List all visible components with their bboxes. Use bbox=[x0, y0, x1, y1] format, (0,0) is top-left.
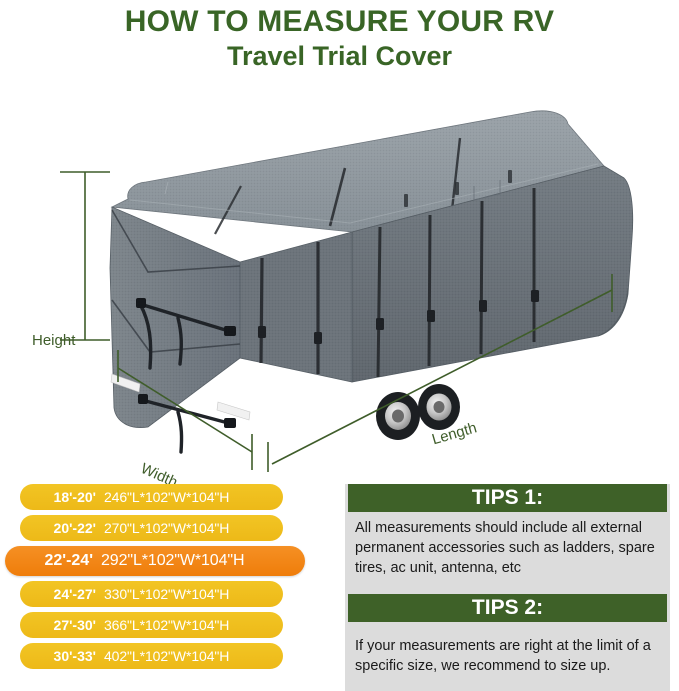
size-dimensions-label: 270"L*102"W*104"H bbox=[104, 520, 229, 536]
page-title: HOW TO MEASURE YOUR RV Travel Trial Cove… bbox=[0, 0, 679, 73]
size-dimensions-label: 246"L*102"W*104"H bbox=[104, 489, 229, 505]
tips1-body: All measurements should include all exte… bbox=[345, 512, 670, 586]
size-range-label: 24'-27' bbox=[20, 586, 104, 602]
tips2-header: TIPS 2: bbox=[348, 594, 667, 622]
size-row[interactable]: 18'-20' 246"L*102"W*104"H bbox=[20, 484, 283, 510]
cover-mid-face bbox=[240, 232, 352, 382]
size-range-label: 27'-30' bbox=[20, 617, 104, 633]
size-dimensions-label: 366"L*102"W*104"H bbox=[104, 617, 229, 633]
size-row[interactable]: 30'-33' 402"L*102"W*104"H bbox=[20, 643, 283, 669]
size-dimensions-label: 292"L*102"W*104"H bbox=[101, 552, 244, 570]
size-row[interactable]: 27'-30' 366"L*102"W*104"H bbox=[20, 612, 283, 638]
tips-panel: TIPS 1: All measurements should include … bbox=[345, 484, 670, 691]
size-chart: 18'-20' 246"L*102"W*104"H 20'-22' 270"L*… bbox=[0, 484, 320, 674]
tips1-header: TIPS 1: bbox=[348, 484, 667, 512]
size-range-label: 20'-22' bbox=[20, 520, 104, 536]
tips-divider bbox=[345, 586, 670, 594]
cover-front-face bbox=[110, 207, 250, 452]
title-primary: HOW TO MEASURE YOUR RV bbox=[0, 4, 679, 40]
size-row[interactable]: 20'-22' 270"L*102"W*104"H bbox=[20, 515, 283, 541]
size-row-selected[interactable]: 22'-24' 292"L*102"W*104"H bbox=[5, 546, 305, 576]
size-dimensions-label: 330"L*102"W*104"H bbox=[104, 586, 229, 602]
infographic-page: HOW TO MEASURE YOUR RV Travel Trial Cove… bbox=[0, 0, 679, 691]
tips2-body: If your measurements are right at the li… bbox=[345, 622, 670, 691]
size-dimensions-label: 402"L*102"W*104"H bbox=[104, 648, 229, 664]
height-dimension-label: Height bbox=[32, 332, 75, 349]
title-secondary: Travel Trial Cover bbox=[0, 40, 679, 73]
size-range-label: 18'-20' bbox=[20, 489, 104, 505]
size-range-label: 22'-24' bbox=[5, 552, 101, 570]
size-range-label: 30'-33' bbox=[20, 648, 104, 664]
rv-cover-illustration: Height Width Length bbox=[0, 82, 679, 472]
size-row[interactable]: 24'-27' 330"L*102"W*104"H bbox=[20, 581, 283, 607]
